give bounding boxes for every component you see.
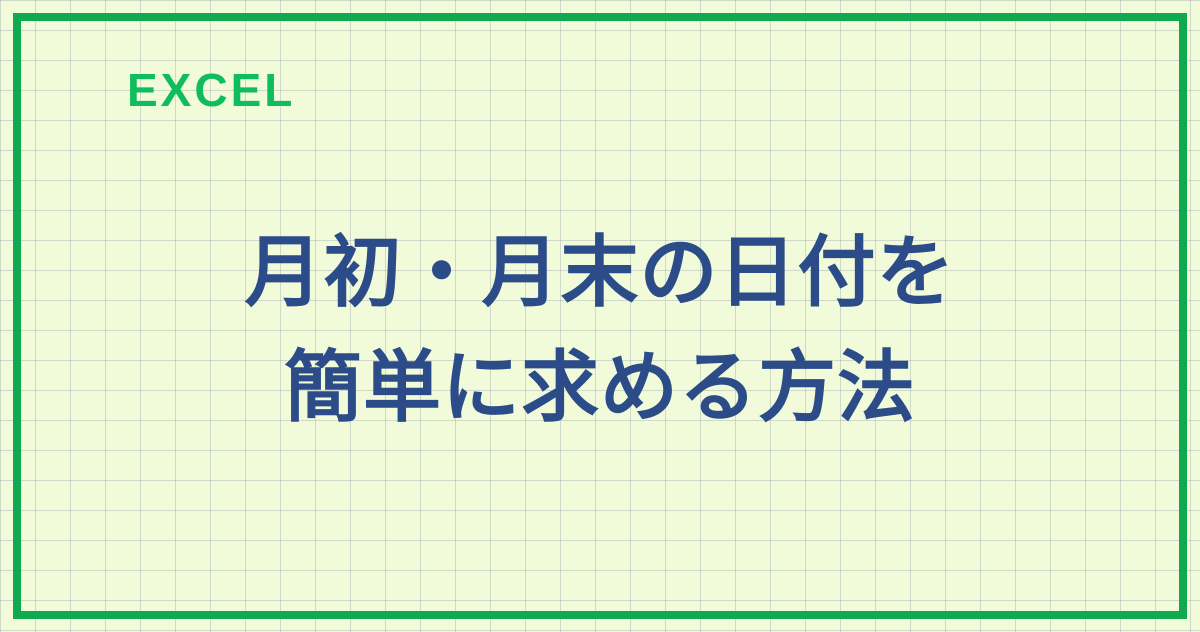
headline: 月初・月末の日付を 簡単に求める方法 xyxy=(0,216,1200,447)
thumbnail-content: EXCEL 月初・月末の日付を 簡単に求める方法 xyxy=(0,0,1200,632)
headline-line-1: 月初・月末の日付を xyxy=(0,216,1200,331)
eyebrow-label-excel: EXCEL xyxy=(127,66,295,114)
headline-line-2: 簡単に求める方法 xyxy=(0,331,1200,446)
thumbnail-canvas: EXCEL 月初・月末の日付を 簡単に求める方法 xyxy=(0,0,1200,632)
